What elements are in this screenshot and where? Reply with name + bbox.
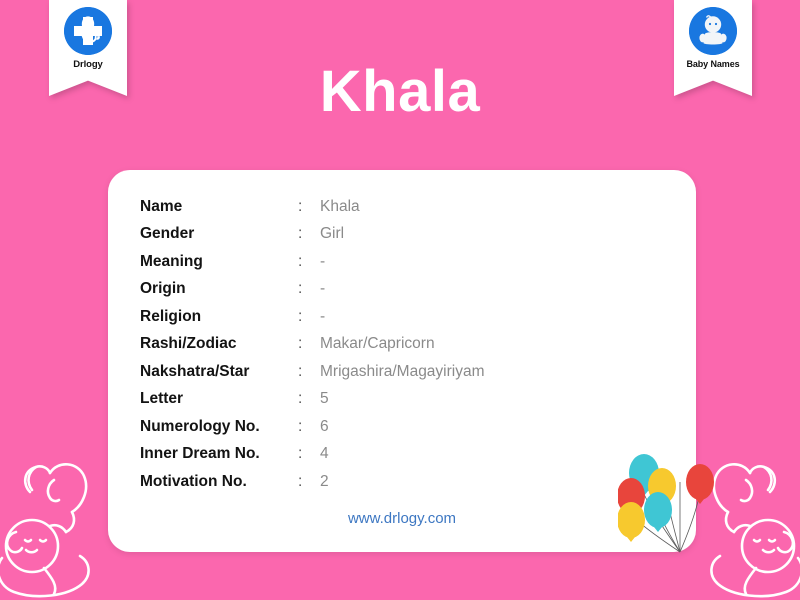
row-label: Origin bbox=[140, 276, 298, 304]
table-row: Religion : - bbox=[140, 303, 485, 331]
name-details-card: Name : Khala Gender : Girl Meaning : - O… bbox=[108, 170, 696, 552]
corner-mother-baby-art-left bbox=[0, 450, 112, 600]
row-separator: : bbox=[298, 248, 320, 276]
page-title: Khala bbox=[0, 63, 800, 121]
baby-silhouette-icon bbox=[689, 7, 737, 55]
row-value: Girl bbox=[320, 221, 485, 249]
row-label: Meaning bbox=[140, 248, 298, 276]
row-value: 6 bbox=[320, 413, 485, 441]
row-separator: : bbox=[298, 358, 320, 386]
row-separator: : bbox=[298, 193, 320, 221]
row-separator: : bbox=[298, 331, 320, 359]
website-url-link[interactable]: www.drlogy.com bbox=[108, 510, 696, 527]
table-row: Gender : Girl bbox=[140, 221, 485, 249]
row-value: Khala bbox=[320, 193, 485, 221]
row-label: Letter bbox=[140, 386, 298, 414]
row-value: 4 bbox=[320, 441, 485, 469]
row-value: 2 bbox=[320, 468, 485, 496]
row-label: Motivation No. bbox=[140, 468, 298, 496]
row-separator: : bbox=[298, 276, 320, 304]
row-separator: : bbox=[298, 441, 320, 469]
table-row: Name : Khala bbox=[140, 193, 485, 221]
row-label: Numerology No. bbox=[140, 413, 298, 441]
table-row: Rashi/Zodiac : Makar/Capricorn bbox=[140, 331, 485, 359]
row-label: Inner Dream No. bbox=[140, 441, 298, 469]
row-label: Gender bbox=[140, 221, 298, 249]
row-separator: : bbox=[298, 303, 320, 331]
table-row: Motivation No. : 2 bbox=[140, 468, 485, 496]
corner-mother-baby-art-right bbox=[688, 450, 800, 600]
row-separator: : bbox=[298, 413, 320, 441]
row-value: - bbox=[320, 303, 485, 331]
row-label: Nakshatra/Star bbox=[140, 358, 298, 386]
table-row: Letter : 5 bbox=[140, 386, 485, 414]
row-label: Name bbox=[140, 193, 298, 221]
row-separator: : bbox=[298, 468, 320, 496]
row-value: Mrigashira/Magayiriyam bbox=[320, 358, 485, 386]
row-value: Makar/Capricorn bbox=[320, 331, 485, 359]
row-label: Religion bbox=[140, 303, 298, 331]
table-row: Origin : - bbox=[140, 276, 485, 304]
table-row: Inner Dream No. : 4 bbox=[140, 441, 485, 469]
row-separator: : bbox=[298, 221, 320, 249]
row-value: - bbox=[320, 248, 485, 276]
table-row: Numerology No. : 6 bbox=[140, 413, 485, 441]
row-value: - bbox=[320, 276, 485, 304]
table-row: Meaning : - bbox=[140, 248, 485, 276]
drlogy-medical-cross-doctor-icon: P bbox=[64, 7, 112, 55]
row-label: Rashi/Zodiac bbox=[140, 331, 298, 359]
table-row: Nakshatra/Star : Mrigashira/Magayiriyam bbox=[140, 358, 485, 386]
name-details-table: Name : Khala Gender : Girl Meaning : - O… bbox=[140, 193, 485, 496]
row-value: 5 bbox=[320, 386, 485, 414]
row-separator: : bbox=[298, 386, 320, 414]
